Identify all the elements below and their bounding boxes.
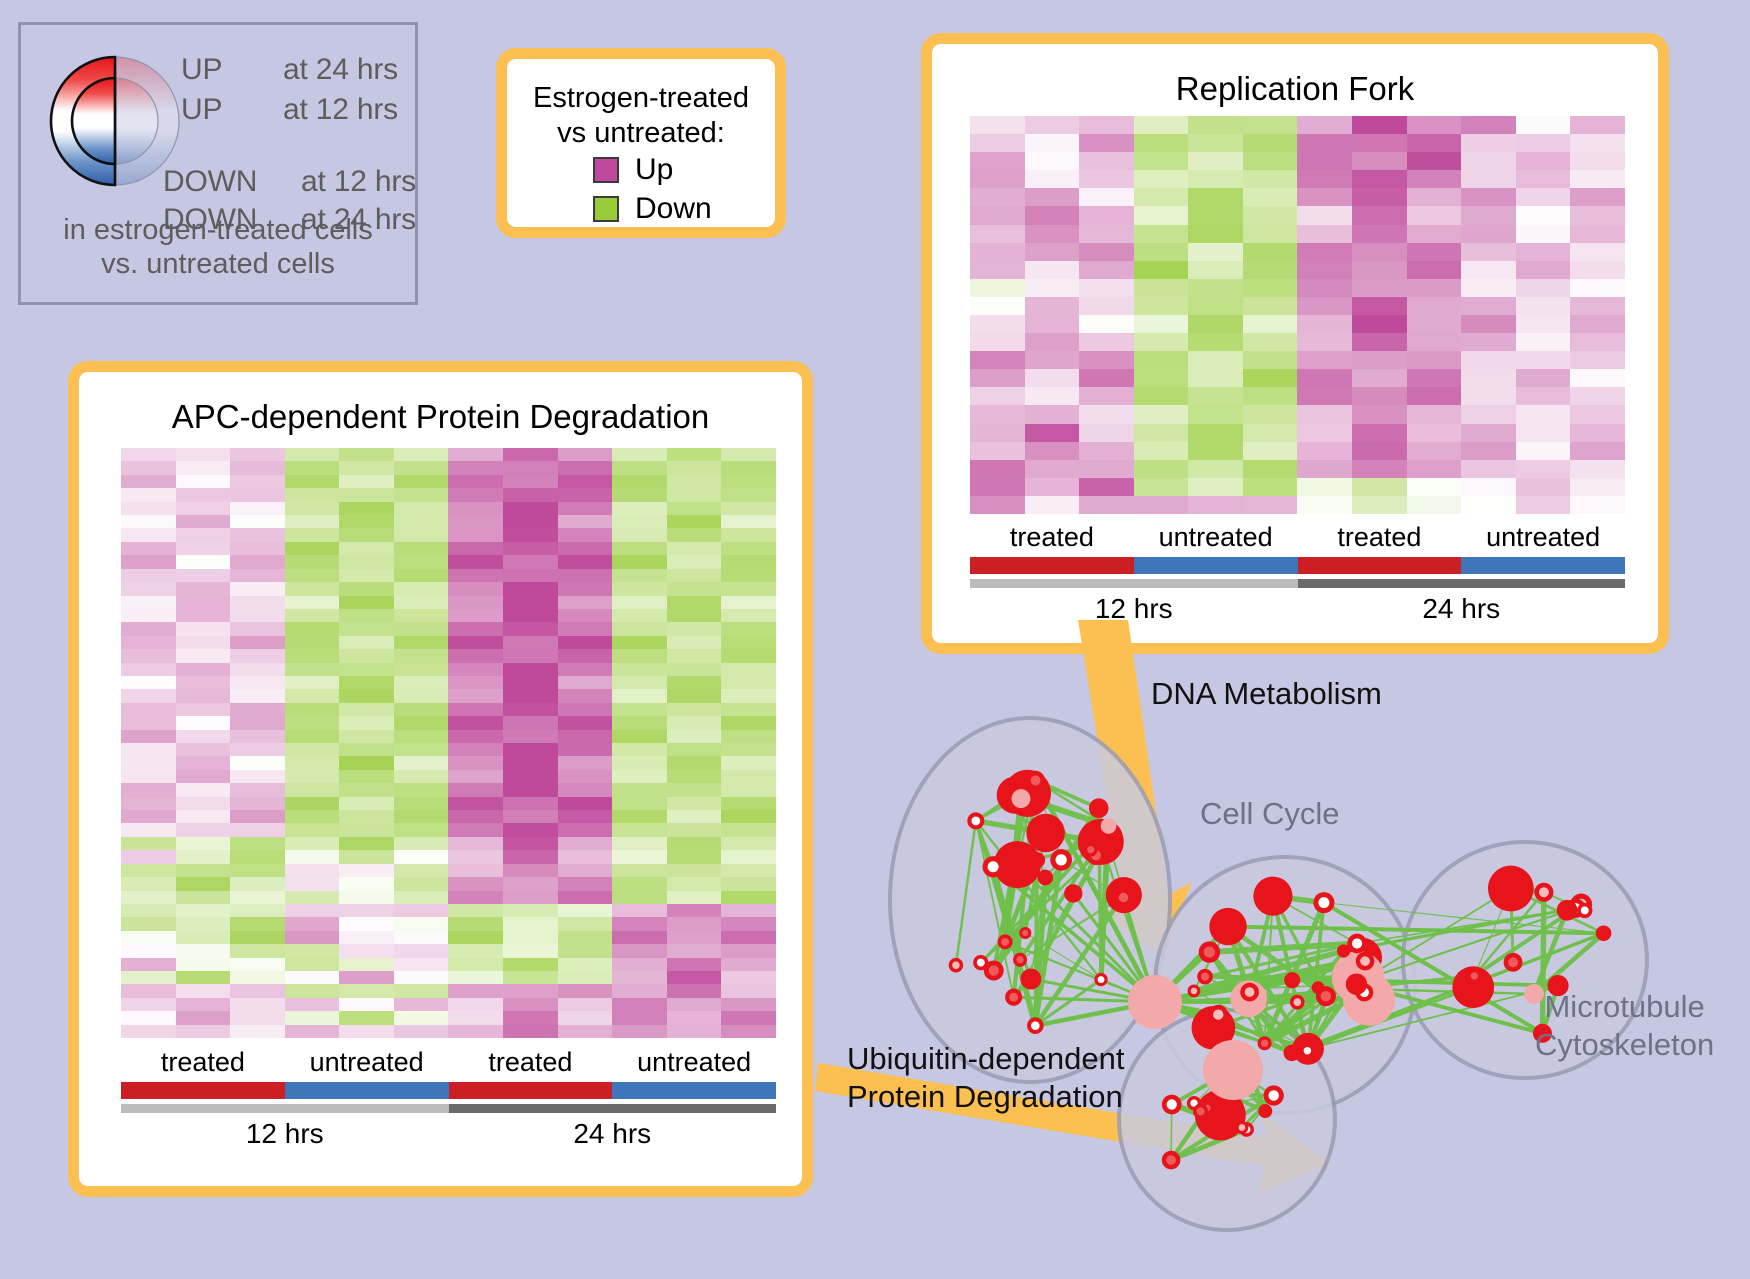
network-node-core: [1508, 957, 1518, 967]
cluster-label-ubiquitin: Ubiquitin-dependent Protein Degradation: [847, 1040, 1125, 1116]
network-node-core: [1031, 775, 1041, 785]
ubq-line-2: Protein Degradation: [847, 1078, 1125, 1116]
network-node-core: [1268, 1090, 1279, 1101]
network-node: [1089, 798, 1109, 818]
network-node: [1037, 870, 1053, 886]
network-node-core: [971, 816, 980, 825]
network-node-core: [1471, 972, 1478, 979]
network-node: [1284, 1045, 1300, 1061]
cluster-label-microtubule-cytoskeleton: Microtubule Cytoskeleton: [1535, 988, 1714, 1064]
network-node-core: [1581, 906, 1589, 914]
ubq-line-1: Ubiquitin-dependent: [847, 1040, 1125, 1078]
network-node-core: [1166, 1155, 1176, 1165]
network-node-core: [1321, 991, 1331, 1001]
network-node-core: [1352, 938, 1362, 948]
network-node-core: [952, 961, 960, 969]
network-node-core: [1031, 1021, 1040, 1030]
network-node: [1064, 884, 1082, 902]
network-node: [1128, 975, 1182, 1029]
network-node-core: [1009, 993, 1018, 1002]
network-node-core: [988, 861, 999, 872]
mt-line-2: Cytoskeleton: [1535, 1026, 1714, 1064]
network-node-core: [1213, 1009, 1223, 1019]
network-node-core: [1167, 1099, 1177, 1109]
network-node-core: [1318, 897, 1329, 908]
network-node-core: [1239, 1124, 1246, 1131]
network-node-core: [1360, 956, 1370, 966]
network-node-core: [1119, 893, 1129, 903]
network-node: [1557, 900, 1578, 921]
network-node-core: [1056, 854, 1067, 865]
network-node: [1203, 1040, 1263, 1100]
network-node: [1284, 972, 1300, 988]
network-node-core: [989, 965, 999, 975]
network-node-core: [1201, 973, 1209, 981]
network-node-core: [1191, 988, 1198, 995]
network-node-core: [1539, 887, 1549, 897]
network-node-core: [1245, 987, 1255, 997]
network-node-core: [1261, 1040, 1268, 1047]
network-node-core: [977, 959, 985, 967]
network-node: [1258, 1104, 1272, 1118]
network-node: [1488, 866, 1534, 912]
network-node-core: [1293, 998, 1301, 1006]
cluster-label-dna-metabolism: DNA Metabolism: [1151, 676, 1382, 712]
network-node-core: [1001, 938, 1009, 946]
network-node: [1209, 908, 1246, 945]
network-node: [1101, 818, 1117, 834]
network-node: [1020, 969, 1041, 990]
mt-line-1: Microtubule: [1535, 988, 1714, 1026]
pathway-network: DNA Metabolism Cell Cycle Microtubule Cy…: [855, 650, 1735, 1270]
network-node-core: [1016, 956, 1023, 963]
network-node-core: [1098, 976, 1105, 983]
network-node-core: [1087, 846, 1094, 853]
network-node-core: [1204, 946, 1215, 957]
cluster-label-cell-cycle: Cell Cycle: [1200, 796, 1340, 832]
network-node: [1253, 877, 1292, 916]
network-node-core: [1304, 1047, 1312, 1055]
network-node: [1029, 852, 1045, 868]
network-node: [1346, 973, 1367, 994]
network-node-core: [1197, 1107, 1205, 1115]
network-node-core: [1022, 930, 1028, 936]
network-node: [1012, 789, 1031, 808]
network-node: [1596, 925, 1612, 941]
